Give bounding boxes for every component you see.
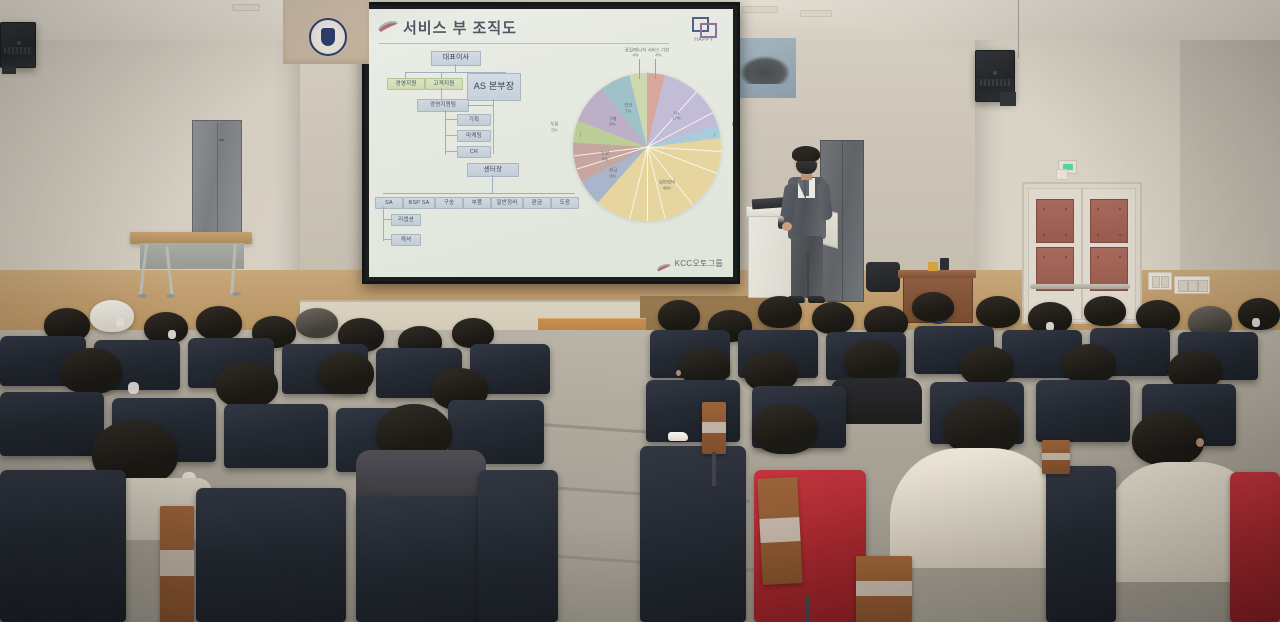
org-line <box>383 219 391 220</box>
crest-shield <box>321 28 335 46</box>
audience-head <box>658 300 700 332</box>
presenter <box>780 148 836 306</box>
trouser-seam <box>807 252 809 298</box>
audience-head <box>296 308 338 338</box>
audience-head <box>912 292 954 322</box>
audience-head <box>196 306 242 340</box>
org-node-unit: BSP SA <box>403 197 435 209</box>
armrest-inlay <box>160 550 194 576</box>
org-node-side-1: 경영지원 <box>387 78 425 90</box>
pie-slice-label: 서비스 기장4% <box>648 48 669 59</box>
audience-head <box>752 404 818 454</box>
audience-head <box>844 340 900 382</box>
light-switch-plate[interactable] <box>1174 276 1210 294</box>
org-node-support-team: 경영지원팀 <box>417 99 469 112</box>
table-apron <box>140 243 244 269</box>
presenter-shoe <box>808 296 825 303</box>
face-mask-icon <box>116 318 124 327</box>
org-line <box>445 119 457 120</box>
table-caster <box>166 294 175 298</box>
speaker-cable <box>1018 0 1019 58</box>
table-caster <box>232 292 241 296</box>
projection-screen: 서비스 부 조직도 HAPPY 대표이사 경영지원 고객지원 AS 본부장 <box>362 2 740 284</box>
audience-head <box>60 348 122 394</box>
door-panel <box>1036 199 1074 243</box>
seat[interactable] <box>640 446 746 622</box>
lectern-item-dark <box>940 258 949 270</box>
armrest-inlay <box>702 422 726 433</box>
org-line <box>445 110 446 155</box>
pie-slice-label: SA17% <box>672 110 680 121</box>
kcc-swoosh-icon <box>656 259 672 269</box>
seat[interactable] <box>478 470 558 622</box>
eyeglasses-icon <box>1196 438 1204 447</box>
slide-title: 서비스 부 조직도 <box>403 17 517 38</box>
audience-head-with-cap <box>90 300 134 332</box>
org-node-unit: 부품 <box>463 197 491 209</box>
org-line <box>467 105 493 106</box>
projection-spill-on-wall <box>734 38 796 98</box>
pie-slice-label: 판금6% <box>609 168 617 179</box>
org-line <box>445 151 457 152</box>
lectern-item-yellow <box>928 262 938 271</box>
audience-head <box>216 362 278 408</box>
cabinet-handle[interactable] <box>219 139 224 141</box>
speaker-driver-icon <box>17 41 21 45</box>
org-node-side-2: 고객지원 <box>425 78 463 90</box>
slide-surface: 서비스 부 조직도 HAPPY 대표이사 경영지원 고객지원 AS 본부장 <box>369 9 733 277</box>
audience-head <box>758 296 802 328</box>
pie-label-leader-line <box>639 59 640 79</box>
pie-slice-label: 일반정비40% <box>659 180 675 191</box>
org-node-unit: 구송 <box>435 197 463 209</box>
org-node-subunit: 캐셔 <box>391 234 421 246</box>
speaker-mount <box>2 66 16 74</box>
audience-head <box>960 346 1014 386</box>
org-line <box>383 193 575 194</box>
face-mask-icon <box>128 382 139 394</box>
presenter-right-arm <box>817 181 833 220</box>
org-line <box>455 64 456 72</box>
seat-armrest <box>856 556 912 622</box>
seat-armrest <box>757 477 802 585</box>
presenter-hand <box>782 222 792 231</box>
ceiling-vent <box>800 10 832 17</box>
happy-logo: HAPPY <box>687 17 721 51</box>
speaker-grill <box>4 47 31 54</box>
org-node-center-head: 센터장 <box>467 163 519 177</box>
ceiling-vent <box>232 4 260 11</box>
lectern-top-surface <box>898 270 976 278</box>
table-caster <box>138 294 147 298</box>
org-line <box>441 88 442 99</box>
armrest-inlay <box>1042 453 1070 460</box>
org-node-cr: CR <box>457 146 491 158</box>
org-line <box>383 239 391 240</box>
pie-label-leader-line <box>655 59 656 79</box>
audience-head <box>812 302 854 334</box>
happy-square-icon <box>692 17 716 37</box>
speaker-driver-icon <box>993 71 997 75</box>
seat[interactable] <box>1230 472 1280 622</box>
org-node-unit: 일반정비 <box>491 197 523 209</box>
audience-head <box>976 296 1020 328</box>
car-chassis-image <box>740 56 790 84</box>
pie-slice-label: BSP SA3% <box>732 122 733 133</box>
seat[interactable] <box>0 392 104 456</box>
gray-cabinet <box>192 120 242 242</box>
armrest-inlay <box>759 517 800 542</box>
kcc-swoosh-icon <box>377 19 399 33</box>
presenter-hair <box>792 146 820 162</box>
pie-slice-label: 품질/매니저4% <box>625 48 646 59</box>
door-seam <box>842 141 843 301</box>
org-node-subunit: 리셉션 <box>391 214 421 226</box>
door-panel <box>1090 199 1128 243</box>
outlet-plate[interactable] <box>1056 169 1068 180</box>
left-wall-speaker <box>0 22 36 64</box>
audience-head <box>318 352 374 394</box>
door-push-bar[interactable] <box>1030 284 1130 289</box>
door-leaf-left[interactable] <box>1028 188 1082 320</box>
eyeglasses-icon <box>676 370 681 376</box>
university-crest-icon <box>309 18 347 56</box>
org-node-marketing: 마케팅 <box>457 130 491 142</box>
pie-slice-label: 전산7% <box>624 103 632 114</box>
pie-chart: 서비스 기장4%SA17%BSP SA3%일반정비40%판금6%도장9%부품5%… <box>565 53 733 243</box>
org-chart: 대표이사 경영지원 고객지원 AS 본부장 경영지원팀 기획 마케팅 C <box>375 51 575 251</box>
org-line <box>383 207 384 241</box>
presenter-trousers <box>791 236 823 298</box>
pie-slice-separator <box>647 147 648 221</box>
armrest-inlay <box>856 581 912 596</box>
org-node-unit: SA <box>375 197 403 209</box>
org-line <box>492 175 493 193</box>
audience-head <box>1062 344 1116 384</box>
org-node-planning: 기획 <box>457 114 491 126</box>
face-mask-icon <box>168 330 176 339</box>
speaker-mount <box>1000 92 1016 106</box>
seat-armrest <box>160 506 194 622</box>
seat[interactable] <box>1036 380 1130 442</box>
seat-armrest <box>702 402 726 454</box>
seat-leg <box>712 452 716 486</box>
seat[interactable] <box>0 470 126 622</box>
slide-brand-footer: KCC오토그룹 <box>656 258 723 269</box>
pie-label-leader-line <box>580 133 581 137</box>
auditorium-scene: 서비스 부 조직도 HAPPY 대표이사 경영지원 고객지원 AS 본부장 <box>0 0 1280 622</box>
seat-armrest <box>1042 440 1070 474</box>
pie-slice-label: 도장9% <box>601 151 609 162</box>
org-line <box>445 135 457 136</box>
seat[interactable] <box>196 488 346 622</box>
speaker-box <box>0 22 36 68</box>
seat[interactable] <box>1046 466 1116 622</box>
audience-head <box>1132 412 1204 466</box>
pie-slice-separator <box>629 147 648 219</box>
seat[interactable] <box>224 404 328 468</box>
seat-leg <box>806 596 810 622</box>
wall-banner <box>283 0 369 64</box>
ceiling-vent <box>742 6 778 13</box>
speaker-grill <box>980 79 1010 86</box>
cabinet-seam <box>217 123 218 238</box>
pie-disc <box>573 73 721 221</box>
audience-shoulders <box>890 448 1062 568</box>
org-line <box>493 99 494 154</box>
equipment-bag <box>866 262 900 292</box>
org-node-division-head: AS 본부장 <box>467 73 521 101</box>
org-node-ceo: 대표이사 <box>431 51 481 66</box>
pie-slice-label: 부품5% <box>550 122 558 133</box>
face-mask-icon <box>1252 318 1260 327</box>
kcc-brand-text: KCC오토그룹 <box>675 258 723 269</box>
slide-title-rule <box>379 43 669 44</box>
org-node-unit: 판금 <box>523 197 551 209</box>
pie-slice-separator <box>574 147 648 157</box>
light-switch-plate[interactable] <box>1148 272 1172 290</box>
pie-label-leader-line <box>714 133 715 137</box>
pie-slice-label: 구매9% <box>608 116 616 127</box>
audience-shoe <box>668 432 688 441</box>
audience-head <box>1084 296 1126 326</box>
